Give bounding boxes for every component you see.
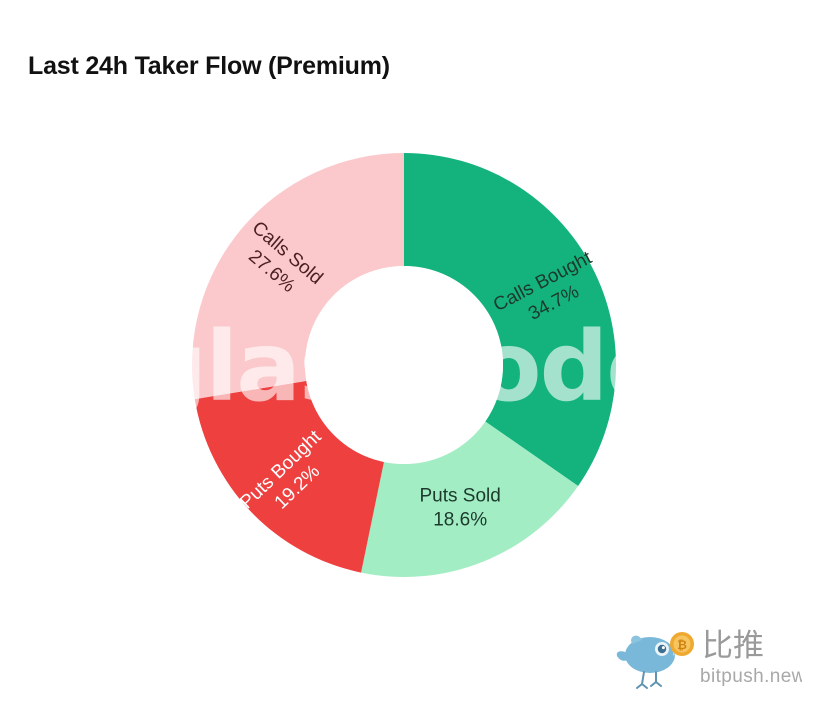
slice-label-value: 18.6% — [433, 510, 487, 531]
donut-chart-svg: glassnode Calls Bought34.7%Puts Sold18.6… — [0, 0, 813, 708]
bitcoin-coin-icon: ₿ — [670, 632, 694, 656]
donut-chart: glassnode Calls Bought34.7%Puts Sold18.6… — [0, 0, 813, 708]
slice-label-name: Puts Sold — [419, 486, 500, 507]
donut-hole — [305, 266, 503, 464]
brand-url: bitpush.news — [700, 666, 802, 687]
footer-logo-svg: ₿ 比推 bitpush.news — [612, 622, 802, 694]
coin-symbol: ₿ — [677, 638, 687, 652]
brand-name-cn: 比推 — [702, 628, 764, 664]
footer-branding: ₿ 比推 bitpush.news — [612, 622, 802, 694]
